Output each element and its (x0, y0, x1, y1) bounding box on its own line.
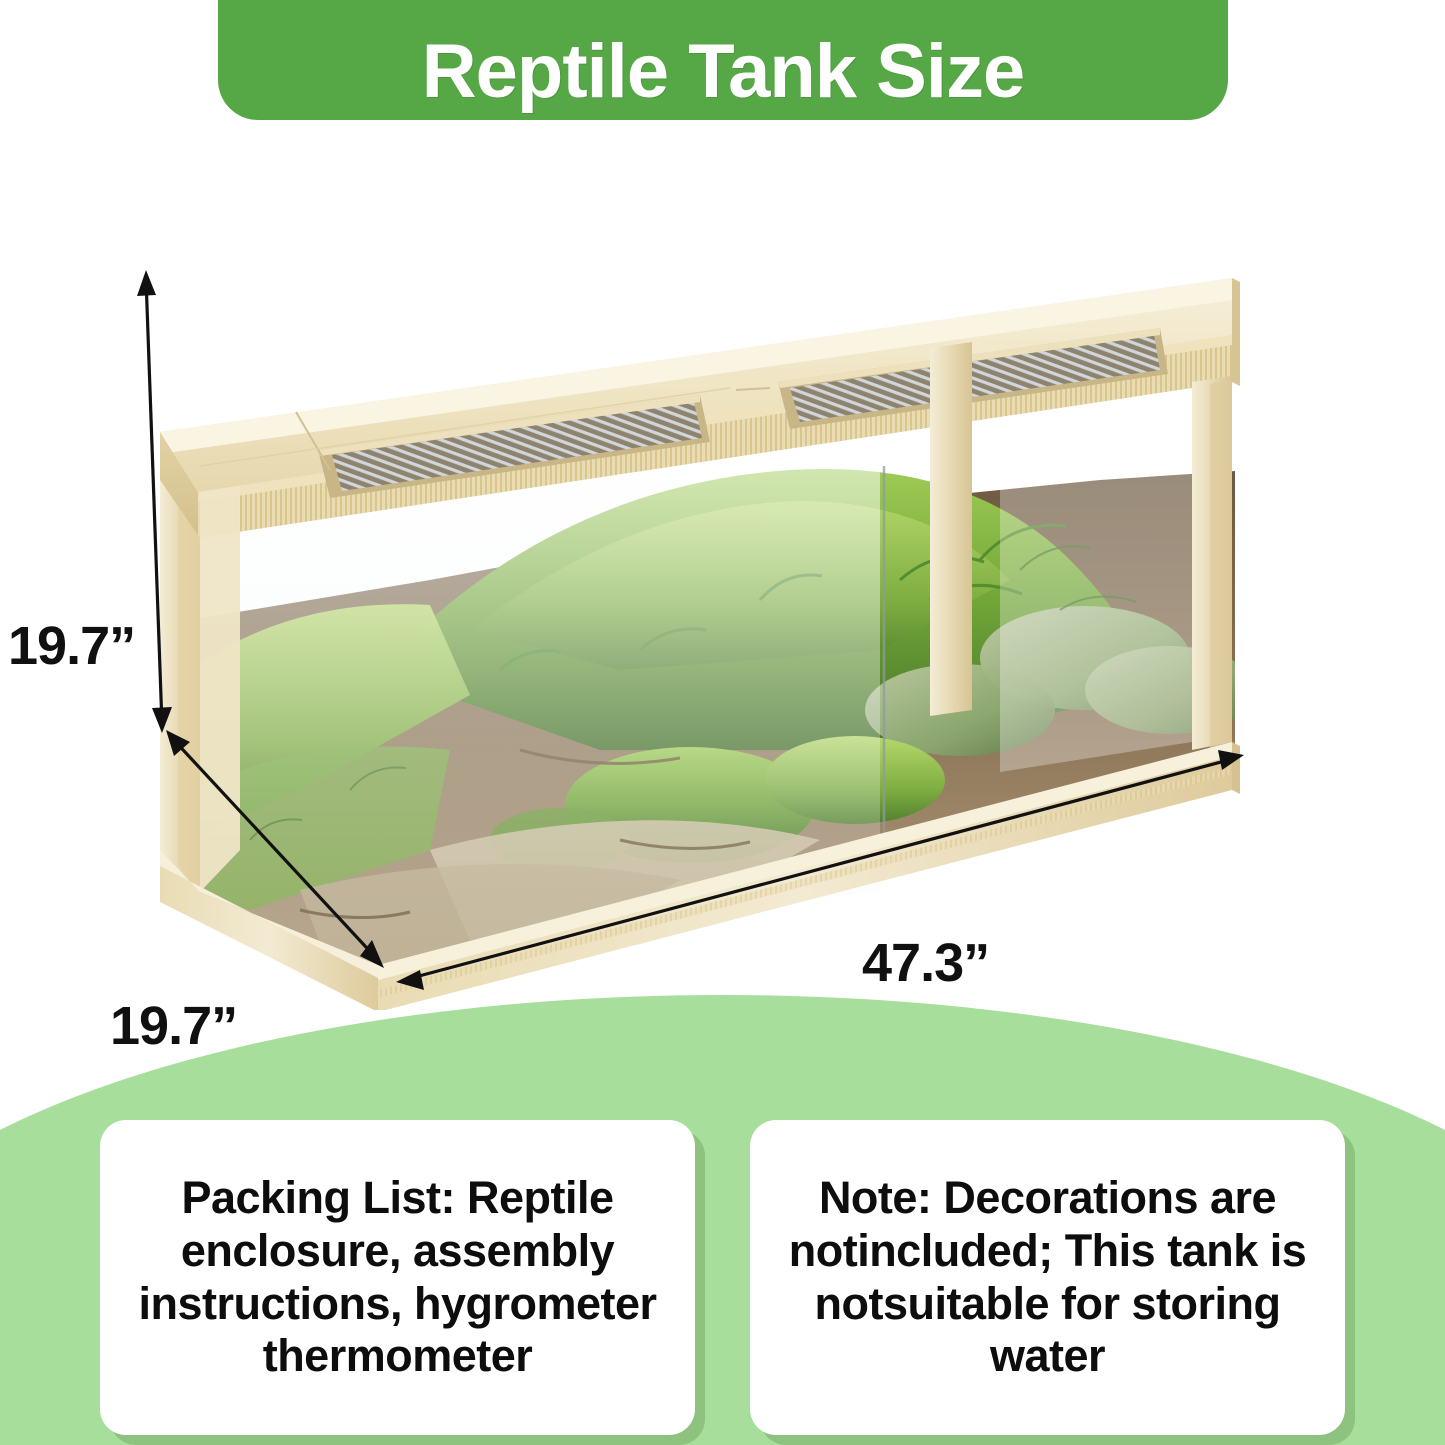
product-illustration: 19.7” 19.7” 47.3” (0, 150, 1445, 1010)
note-card: Note: Decorations are notincluded; This … (750, 1120, 1345, 1435)
packing-list-card: Packing List: Reptile enclosure, assembl… (100, 1120, 695, 1435)
post-back-left (200, 486, 240, 892)
packing-list-text: Packing List: Reptile enclosure, assembl… (126, 1172, 669, 1383)
arrow-height (146, 278, 162, 725)
dimension-label-height: 19.7” (8, 615, 135, 677)
right-glass-panel (1000, 408, 1192, 772)
page-title: Reptile Tank Size (422, 34, 1024, 110)
dimension-label-width: 47.3” (862, 932, 989, 994)
post-middle (930, 342, 972, 716)
infographic-root: Reptile Tank Size (0, 0, 1445, 1445)
reptile-tank-drawing (0, 150, 1445, 1010)
title-banner: Reptile Tank Size (218, 0, 1228, 120)
dimension-label-depth: 19.7” (110, 995, 237, 1057)
note-text: Note: Decorations are notincluded; This … (776, 1172, 1319, 1383)
info-cards: Packing List: Reptile enclosure, assembl… (0, 1120, 1445, 1445)
